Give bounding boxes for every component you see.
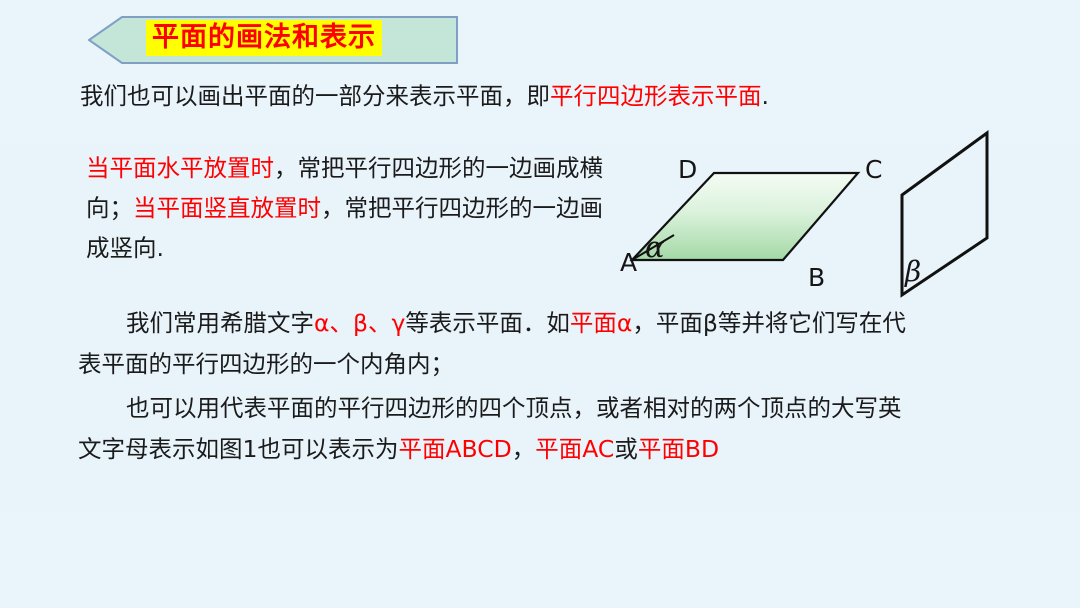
plane-ac-highlight: 平面AC bbox=[535, 435, 614, 463]
plane-figures-group: A B C α D β bbox=[600, 120, 1020, 310]
orientation-horizontal-highlight: 当平面水平放置时 bbox=[86, 154, 274, 182]
intro-paragraph: 我们也可以画出平面的一部分来表示平面，即平行四边形表示平面. bbox=[80, 79, 980, 114]
orientation-paragraph: 当平面水平放置时，常把平行四边形的一边画成横向；当平面竖直放置时，常把平行四边形… bbox=[86, 148, 626, 268]
plane-label-beta: β bbox=[905, 255, 921, 288]
greek-letters-highlight: α、β、γ bbox=[314, 309, 405, 337]
vertical-plane-diagram bbox=[600, 120, 1020, 310]
page-title: 平面的画法和表示 bbox=[146, 20, 382, 56]
orientation-vertical-highlight: 当平面竖直放置时 bbox=[133, 194, 321, 222]
greek-text-1: 我们常用希腊文字 bbox=[126, 309, 314, 337]
slide-canvas: 平面的画法和表示 我们也可以画出平面的一部分来表示平面，即平行四边形表示平面. … bbox=[0, 0, 1080, 608]
plane-bd-highlight: 平面BD bbox=[638, 435, 719, 463]
title-banner: 平面的画法和表示 bbox=[88, 16, 458, 64]
vertex-text-2: ， bbox=[512, 435, 536, 463]
plane-abcd-highlight: 平面ABCD bbox=[398, 435, 511, 463]
vertex-text-3: 或 bbox=[614, 435, 638, 463]
greek-letters-paragraph: 我们常用希腊文字α、β、γ等表示平面．如平面α，平面β等并将它们写在代表平面的平… bbox=[78, 303, 908, 385]
intro-text-highlight: 平行四边形表示平面 bbox=[550, 82, 762, 110]
intro-text-part1: 我们也可以画出平面的一部分来表示平面，即 bbox=[80, 82, 550, 110]
vertex-naming-paragraph: 也可以用代表平面的平行四边形的四个顶点，或者相对的两个顶点的大写英文字母表示如图… bbox=[78, 388, 908, 470]
greek-text-2: 等表示平面．如 bbox=[405, 309, 570, 337]
intro-text-part3: . bbox=[762, 82, 769, 110]
plane-alpha-highlight: 平面α bbox=[570, 309, 633, 337]
